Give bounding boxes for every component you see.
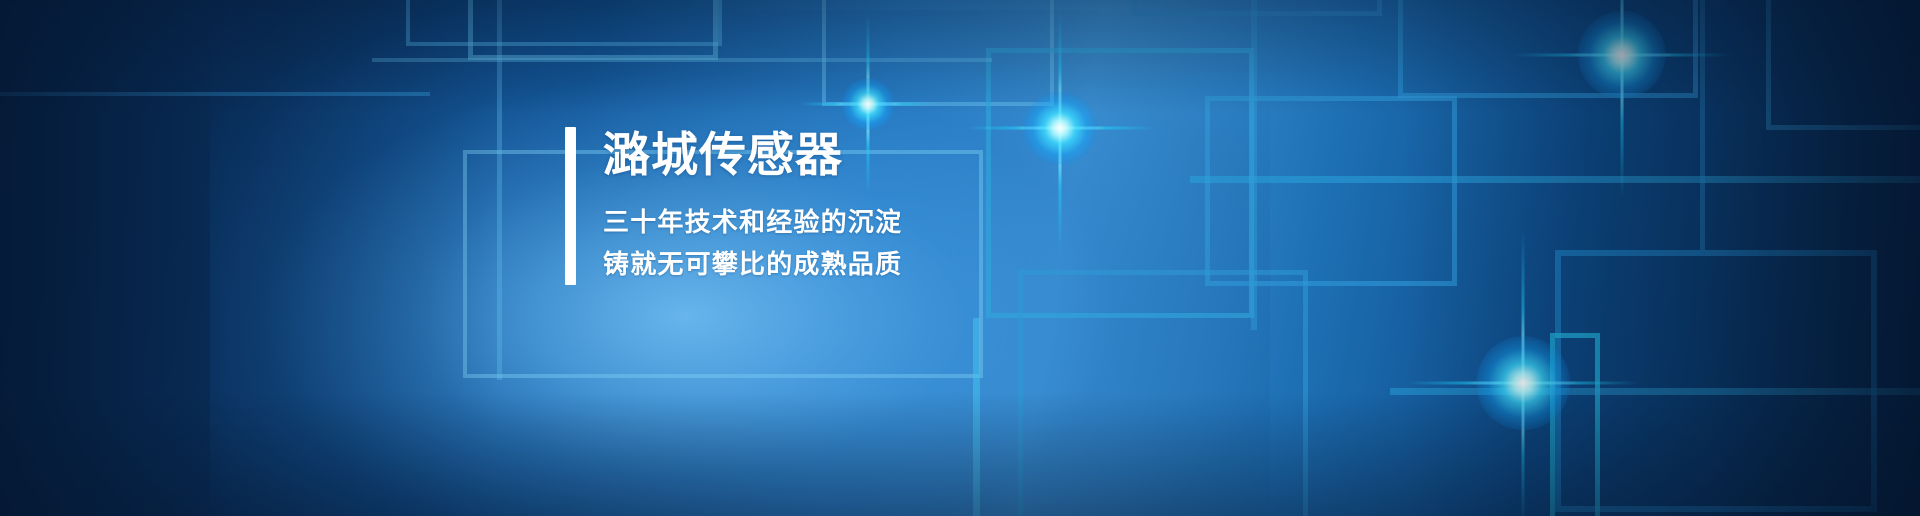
hero-banner: 潞城传感器 三十年技术和经验的沉淀 铸就无可攀比的成熟品质 bbox=[0, 0, 1920, 516]
banner-subtitle-line-2: 铸就无可攀比的成熟品质 bbox=[603, 243, 902, 285]
banner-copy: 潞城传感器 三十年技术和经验的沉淀 铸就无可攀比的成熟品质 bbox=[603, 127, 902, 285]
banner-subtitle-line-1: 三十年技术和经验的沉淀 bbox=[603, 201, 902, 243]
background-gradient bbox=[0, 0, 1920, 516]
banner-text-block: 潞城传感器 三十年技术和经验的沉淀 铸就无可攀比的成熟品质 bbox=[565, 127, 902, 285]
banner-title: 潞城传感器 bbox=[603, 129, 902, 181]
accent-bar bbox=[565, 127, 576, 285]
